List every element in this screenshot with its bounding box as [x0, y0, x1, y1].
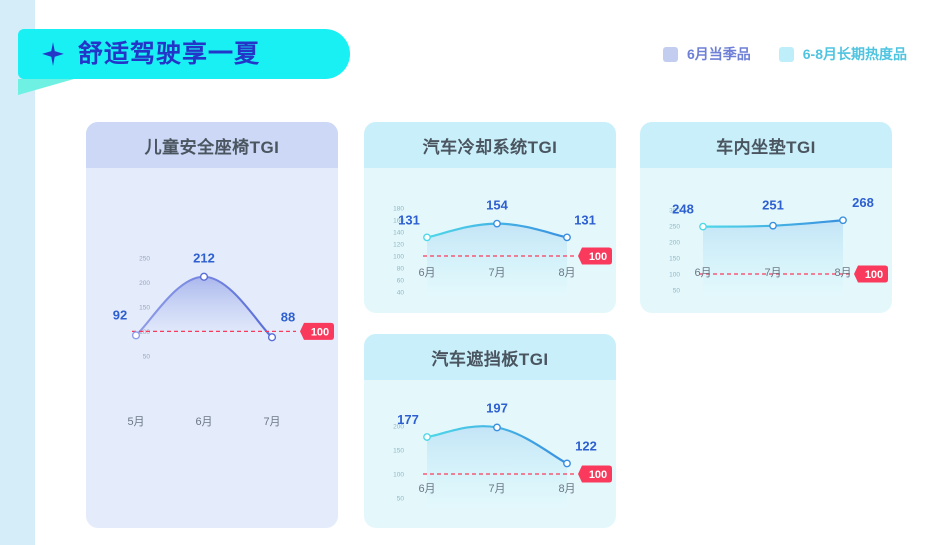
card-header: 汽车遮挡板TGI	[364, 334, 616, 380]
svg-text:251: 251	[762, 198, 784, 213]
card-header: 车内坐垫TGI	[640, 122, 892, 168]
svg-text:8月: 8月	[558, 483, 575, 495]
svg-text:250: 250	[139, 256, 150, 263]
legend-swatch	[663, 47, 678, 62]
svg-text:100: 100	[669, 272, 680, 279]
svg-text:7月: 7月	[488, 483, 505, 495]
svg-text:88: 88	[281, 309, 295, 324]
legend-item-seasonal[interactable]: 6月当季品	[663, 44, 751, 64]
svg-text:250: 250	[669, 224, 680, 231]
svg-text:6月: 6月	[418, 267, 435, 279]
svg-text:100: 100	[393, 472, 404, 479]
chart-card-cooling-system[interactable]: 汽车冷却系统TGI 180160140120100806040100131154…	[364, 122, 616, 313]
svg-text:100: 100	[865, 269, 883, 281]
card-title: 车内坐垫TGI	[716, 133, 816, 158]
svg-text:120: 120	[393, 242, 404, 249]
svg-text:50: 50	[397, 496, 405, 503]
line-chart: 300250200150100501002482512686月7月8月	[640, 168, 892, 313]
svg-text:122: 122	[575, 438, 597, 453]
svg-text:150: 150	[139, 305, 150, 312]
card-title: 汽车遮挡板TGI	[431, 345, 548, 370]
svg-text:7月: 7月	[764, 267, 781, 279]
svg-text:6月: 6月	[418, 483, 435, 495]
svg-text:6月: 6月	[195, 416, 212, 428]
svg-text:60: 60	[397, 278, 405, 285]
svg-text:50: 50	[673, 288, 681, 295]
line-chart: 2502001501005010092212885月6月7月	[86, 168, 338, 528]
chart-card-child-safety-seat[interactable]: 儿童安全座椅TGI 2502001501005010092212885月6月7月	[86, 122, 338, 528]
svg-text:8月: 8月	[834, 267, 851, 279]
svg-text:200: 200	[669, 240, 680, 247]
svg-text:100: 100	[393, 254, 404, 261]
card-title: 汽车冷却系统TGI	[423, 133, 558, 158]
legend: 6月当季品 6-8月长期热度品	[663, 44, 907, 64]
legend-swatch	[779, 47, 794, 62]
svg-text:100: 100	[589, 469, 607, 481]
svg-text:150: 150	[669, 256, 680, 263]
card-chart-area: 2502001501005010092212885月6月7月	[86, 168, 338, 528]
chart-card-sun-shade[interactable]: 汽车遮挡板TGI 200150100501001771971226月7月8月	[364, 334, 616, 528]
svg-text:8月: 8月	[558, 267, 575, 279]
svg-text:154: 154	[486, 198, 508, 213]
svg-text:177: 177	[397, 412, 419, 427]
svg-text:140: 140	[393, 230, 404, 237]
svg-text:197: 197	[486, 400, 508, 415]
line-chart: 1801601401201008060401001311541316月7月8月	[364, 168, 616, 313]
svg-text:7月: 7月	[263, 416, 280, 428]
svg-text:92: 92	[113, 307, 127, 322]
card-chart-area: 1801601401201008060401001311541316月7月8月	[364, 168, 616, 313]
legend-item-longterm[interactable]: 6-8月长期热度品	[779, 44, 907, 64]
svg-text:80: 80	[397, 266, 405, 273]
svg-text:131: 131	[574, 212, 596, 227]
svg-text:268: 268	[852, 195, 874, 210]
legend-item-label: 6-8月长期热度品	[803, 44, 907, 64]
svg-text:50: 50	[143, 353, 151, 360]
svg-text:40: 40	[397, 290, 405, 297]
sparkle-icon	[40, 41, 66, 67]
svg-text:100: 100	[311, 326, 329, 338]
svg-text:131: 131	[398, 212, 420, 227]
svg-text:248: 248	[672, 202, 694, 217]
svg-text:200: 200	[139, 280, 150, 287]
svg-text:7月: 7月	[488, 267, 505, 279]
banner-ribbon-fold	[18, 79, 74, 95]
svg-text:100: 100	[589, 251, 607, 263]
svg-text:150: 150	[393, 448, 404, 455]
line-chart: 200150100501001771971226月7月8月	[364, 380, 616, 528]
card-chart-area: 200150100501001771971226月7月8月	[364, 380, 616, 528]
title-banner: 舒适驾驶享一夏	[18, 29, 350, 79]
card-chart-area: 300250200150100501002482512686月7月8月	[640, 168, 892, 313]
page-title: 舒适驾驶享一夏	[78, 42, 260, 67]
card-header: 汽车冷却系统TGI	[364, 122, 616, 168]
svg-text:212: 212	[193, 251, 215, 266]
card-header: 儿童安全座椅TGI	[86, 122, 338, 168]
card-title: 儿童安全座椅TGI	[145, 133, 280, 158]
svg-text:6月: 6月	[694, 267, 711, 279]
chart-card-seat-cushion[interactable]: 车内坐垫TGI 300250200150100501002482512686月7…	[640, 122, 892, 313]
legend-item-label: 6月当季品	[687, 44, 751, 64]
svg-text:5月: 5月	[127, 416, 144, 428]
